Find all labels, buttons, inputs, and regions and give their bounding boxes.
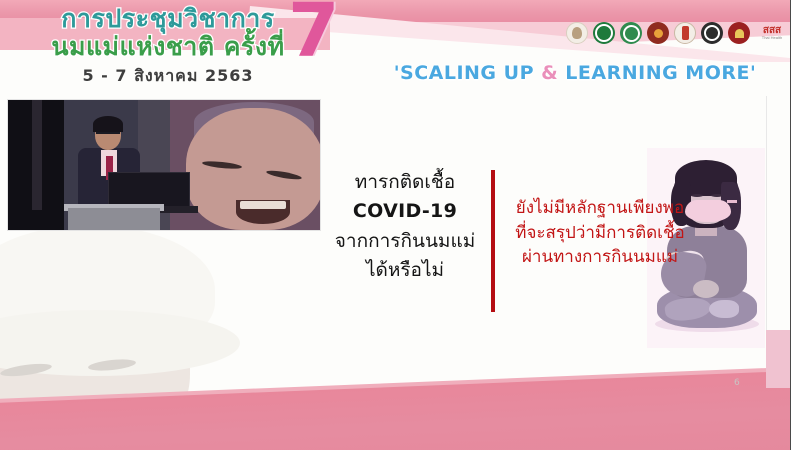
speaker-hair — [93, 116, 123, 132]
podium — [68, 208, 160, 230]
thai-crest-logo — [674, 22, 696, 44]
question-line-2: COVID-19 — [325, 197, 485, 226]
green-circle-logo-1 — [593, 22, 615, 44]
answer-text-block: ยังไม่มีหลักฐานเพียงพอ ที่จะสรุปว่ามีการ… — [500, 196, 700, 270]
mother-foot — [709, 300, 739, 318]
answer-line-1: ยังไม่มีหลักฐานเพียงพอ — [500, 196, 700, 221]
tagline-ampersand: & — [541, 62, 558, 84]
conference-tagline: 'SCALING UP & LEARNING MORE' — [360, 62, 790, 84]
answer-line-3: ผ่านทางการกินนมแม่ — [500, 245, 700, 270]
window-right-edge — [790, 0, 800, 450]
conference-date: 5 - 7 สิงหาคม 2563 — [18, 64, 318, 89]
tagline-prefix: 'SCALING UP — [394, 62, 541, 84]
screen-baby-teeth — [240, 201, 286, 209]
conference-speaker-photo — [8, 100, 320, 230]
right-pink-accent — [766, 330, 790, 388]
face-mask-strap — [727, 200, 737, 203]
thaihealth-logo-sublabel: Thai Health — [762, 36, 782, 40]
mother-hand — [693, 280, 719, 298]
thaihealth-logo: สสส Thai Health — [755, 22, 789, 44]
question-line-4: ได้หรือไม่ — [325, 256, 485, 285]
question-line-3: จากการกินนมแม่ — [325, 227, 485, 256]
answer-line-2: ที่จะสรุปว่ามีการติดเชื้อ — [500, 221, 700, 246]
black-seal-logo — [701, 22, 723, 44]
mother-eye-right — [711, 194, 723, 197]
conference-title: การประชุมวิชาการ นมแม่แห่งชาติ ครั้งที่ … — [18, 6, 318, 89]
question-text-block: ทารกติดเชื้อ COVID-19 จากการกินนมแม่ ได้… — [325, 168, 485, 286]
speaker-glasses — [96, 132, 120, 138]
photo-door-strip — [32, 100, 42, 210]
tagline-suffix: LEARNING MORE' — [558, 62, 756, 84]
conference-title-line1: การประชุมวิชาการ — [18, 6, 318, 31]
red-seal-logo — [728, 22, 750, 44]
royal-seal-logo — [566, 22, 588, 44]
sponsor-logo-row: สสส Thai Health — [566, 22, 789, 44]
presentation-slide: 7 การประชุมวิชาการ นมแม่แห่งชาติ ครั้งที… — [0, 0, 800, 450]
maroon-emblem-logo — [647, 22, 669, 44]
page-number: 6 — [734, 378, 740, 388]
conference-title-line2: นมแม่แห่งชาติ ครั้งที่ — [18, 34, 318, 59]
answer-accent-bar — [491, 170, 495, 312]
question-line-1: ทารกติดเชื้อ — [325, 168, 485, 197]
content-divider-line — [766, 96, 767, 356]
green-circle-logo-2 — [620, 22, 642, 44]
